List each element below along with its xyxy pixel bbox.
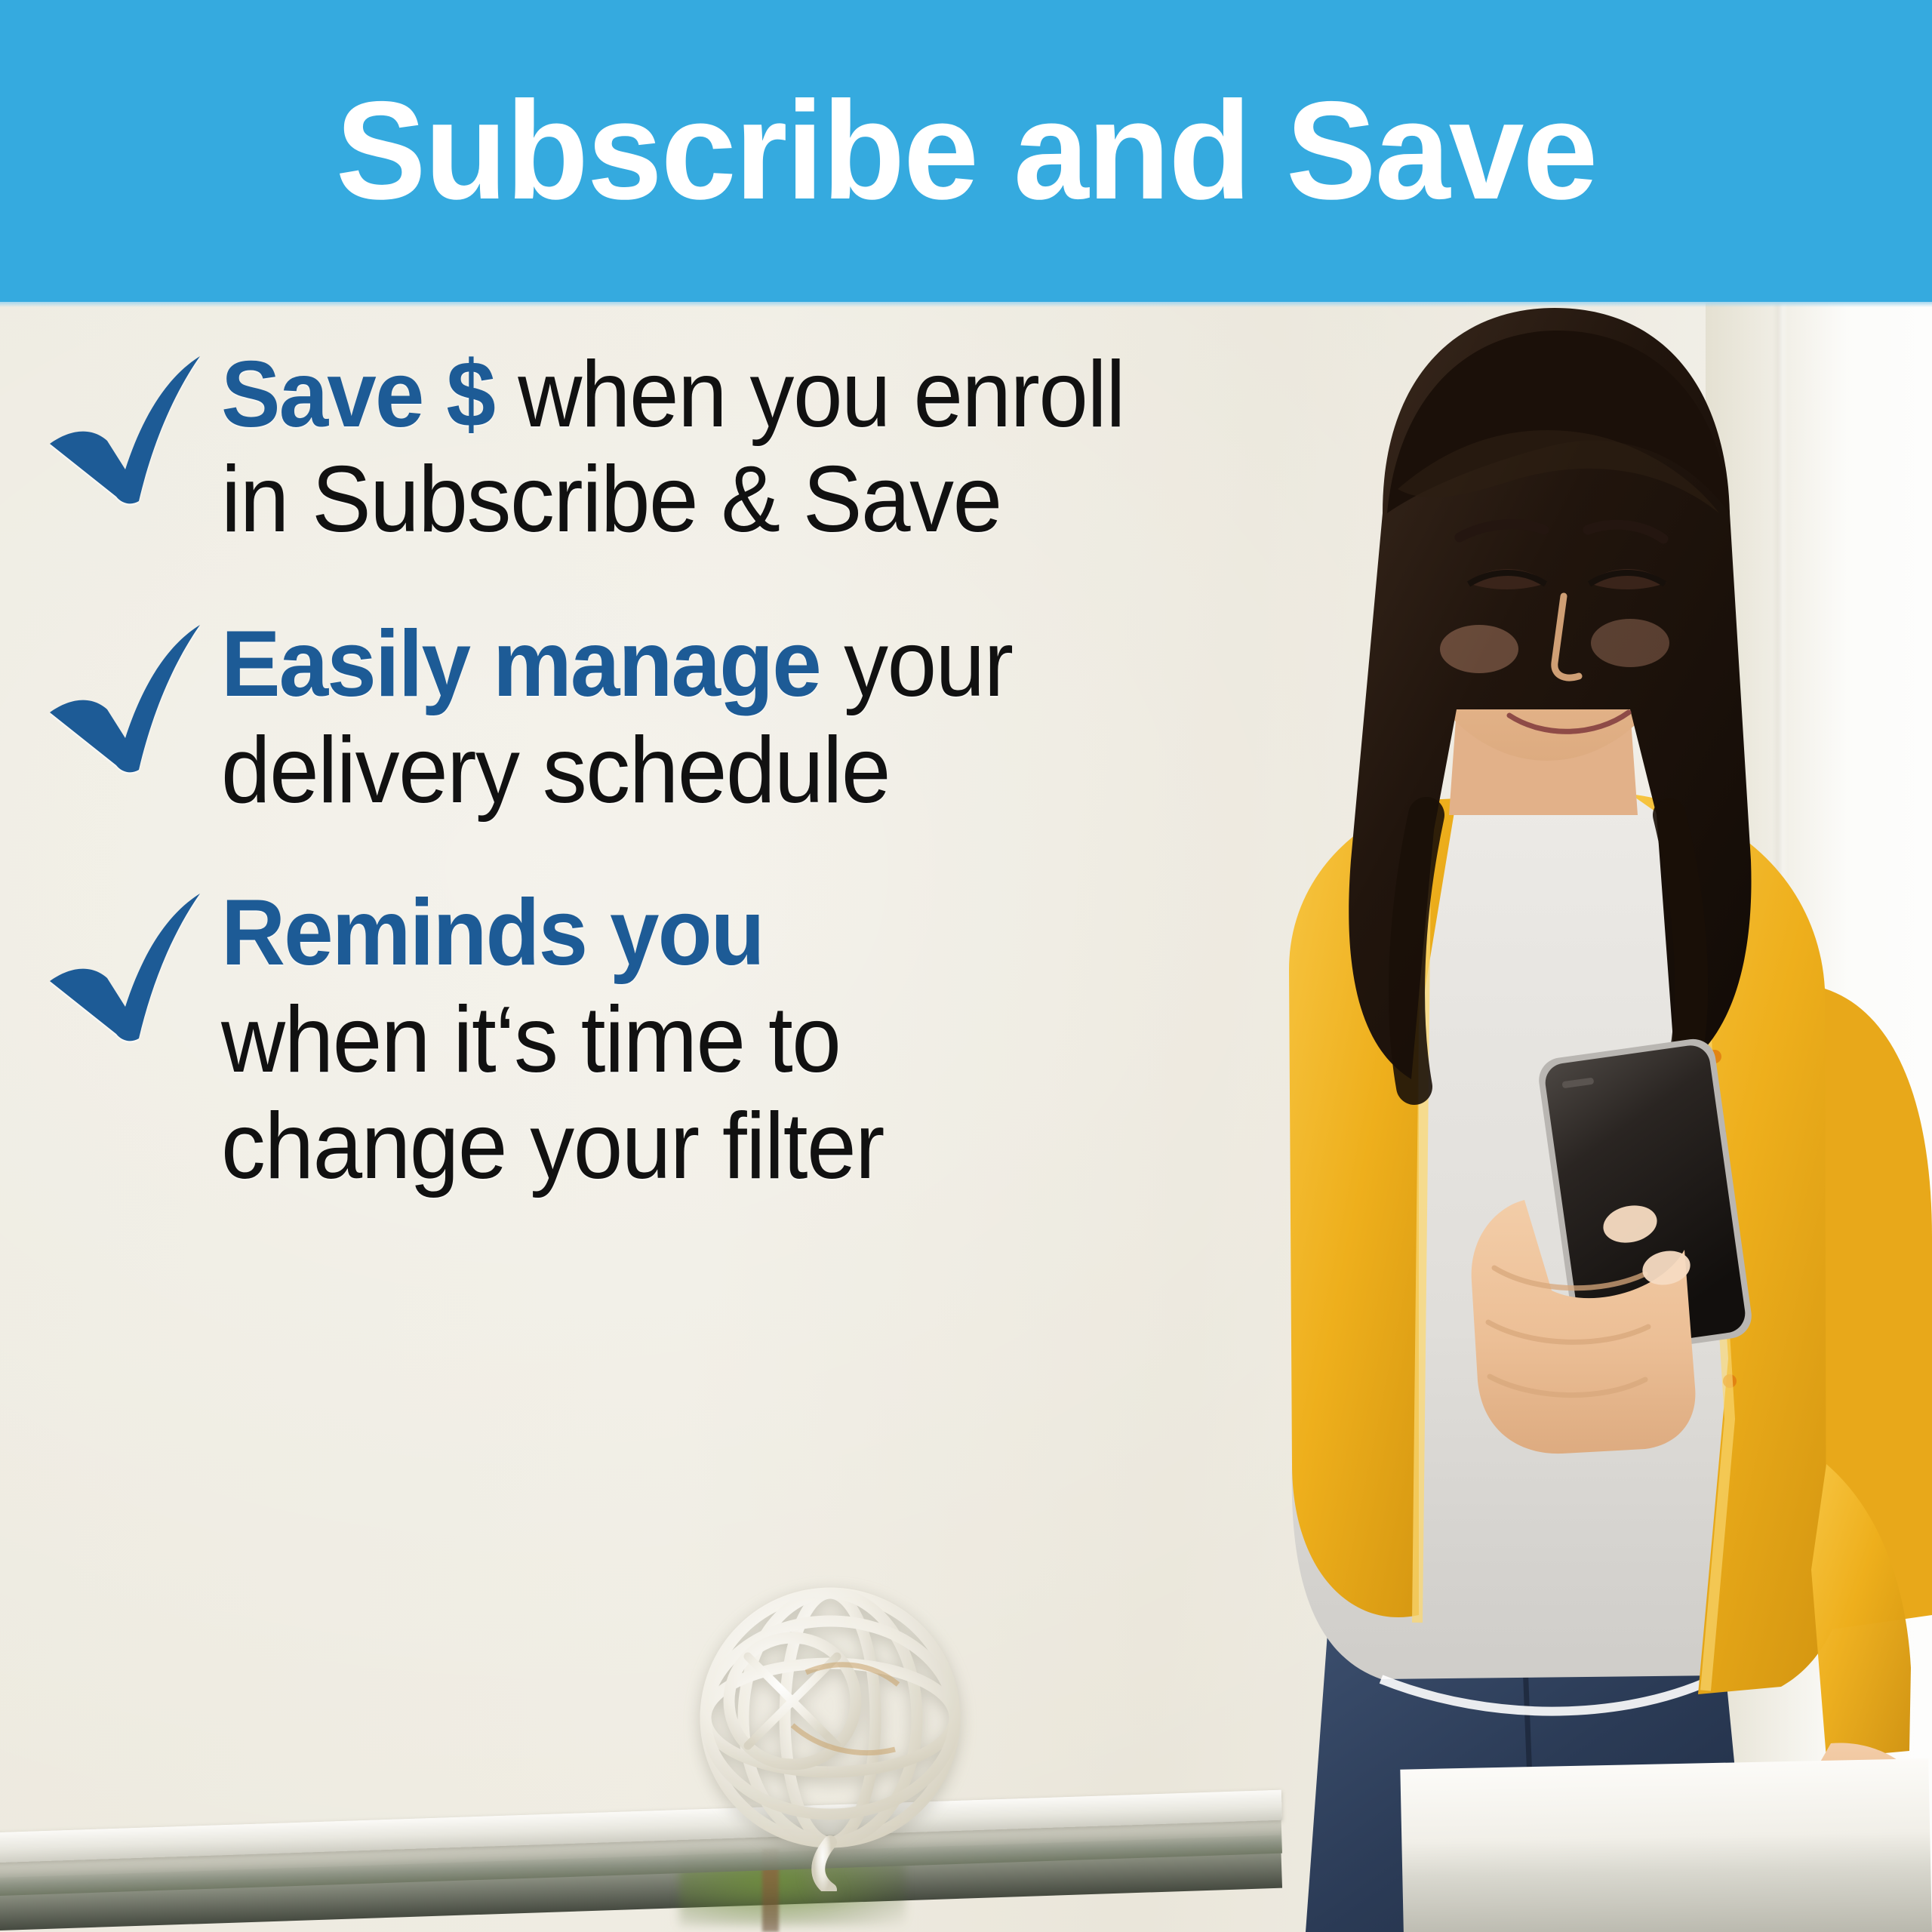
- woman-with-smartphone-photo: [1102, 287, 1932, 1932]
- benefit-highlight-reminds: Reminds you: [221, 881, 764, 985]
- banner-underline: [0, 302, 1932, 307]
- benefit-highlight-manage: Easily manage: [221, 612, 820, 716]
- benefit-line2-reminds: when it‘s time to: [221, 988, 840, 1092]
- benefit-item-save: Save $ when you enrollin Subscribe & Sav…: [45, 341, 1207, 552]
- checkmark-icon: [45, 892, 208, 1043]
- benefit-line2-save: in Subscribe & Save: [221, 448, 1001, 552]
- benefit-text-manage: Easily manage yourdelivery schedule: [221, 610, 1158, 825]
- benefit-line2-manage: delivery schedule: [221, 718, 890, 823]
- page-title: Subscribe and Save: [336, 82, 1597, 221]
- white-counter: [1400, 1758, 1932, 1932]
- benefit-rest-save: when you enroll: [494, 343, 1124, 447]
- benefit-item-reminds: Reminds youwhen it‘s time tochange your …: [45, 878, 1207, 1200]
- benefit-text-save: Save $ when you enrollin Subscribe & Sav…: [221, 341, 1158, 552]
- header-banner: Subscribe and Save: [0, 0, 1932, 302]
- benefit-rest-manage: your: [820, 612, 1013, 716]
- benefit-item-manage: Easily manage yourdelivery schedule: [45, 610, 1207, 825]
- decorative-sphere-ornament: [679, 1574, 981, 1891]
- benefits-list: Save $ when you enrollin Subscribe & Sav…: [45, 341, 1207, 1201]
- checkmark-icon: [45, 623, 208, 774]
- subscribe-and-save-poster: Subscribe and Save Save $ when you enrol…: [0, 0, 1932, 1932]
- glass-table: [0, 1706, 1283, 1932]
- benefit-text-reminds: Reminds youwhen it‘s time tochange your …: [221, 878, 1158, 1200]
- benefit-highlight-save: Save $: [221, 343, 494, 447]
- checkmark-icon: [45, 355, 208, 506]
- benefit-line3-reminds: change your filter: [221, 1094, 884, 1198]
